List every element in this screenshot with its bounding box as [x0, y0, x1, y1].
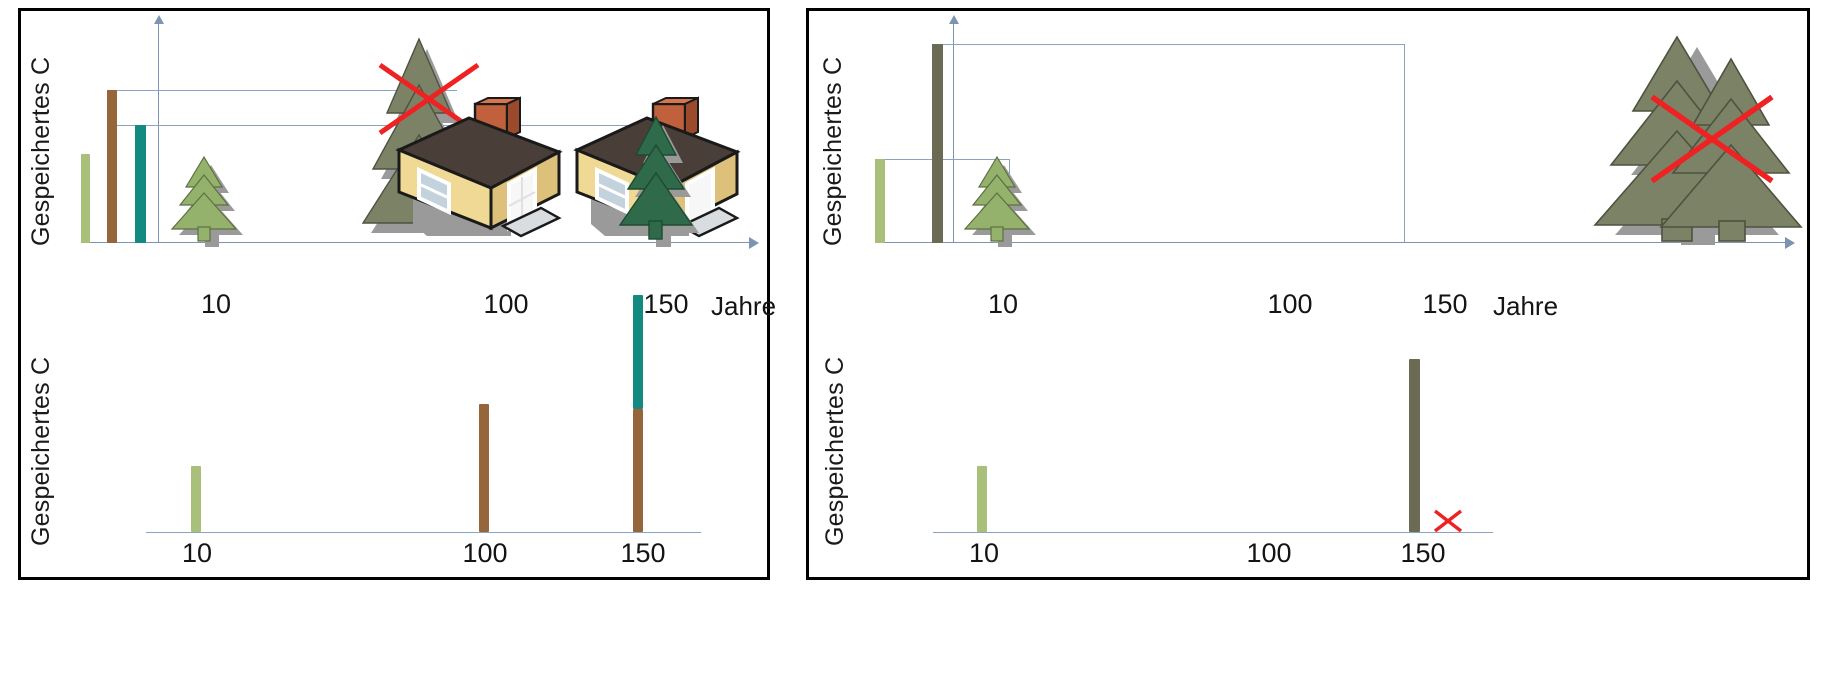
left-bottom-tick-10: 10 — [182, 538, 212, 569]
left-top-tick-150: 150 — [643, 289, 688, 320]
right-top-tick-150: 150 — [1422, 289, 1467, 320]
left-top-tick-100: 100 — [483, 289, 528, 320]
left-bottom-bar-10-green — [191, 466, 201, 532]
left-bottom-x-axis — [146, 532, 701, 533]
right-top-y-axis — [953, 23, 954, 243]
left-bottom-bar-150-brown — [633, 409, 643, 532]
right-bottom-tick-10: 10 — [969, 538, 999, 569]
right-red-cross-tree-icon — [1647, 89, 1777, 189]
right-top-bar-green-light — [875, 159, 885, 243]
right-young-tree-icon — [964, 149, 1054, 249]
right-top-x-axis-name: Jahre — [1493, 291, 1558, 322]
left-top-x-axis-arrow-icon — [749, 237, 759, 249]
left-top-y-axis-arrow-icon — [154, 15, 164, 24]
left-house-100-icon — [391, 96, 571, 246]
left-top-x-axis-name: Jahre — [711, 291, 776, 322]
left-top-y-axis-label: Gespeichertes C — [27, 21, 56, 246]
right-guide-olive-top — [932, 44, 1404, 45]
right-top-bar-olive-dark — [932, 44, 943, 243]
left-young-tree-icon — [171, 149, 261, 249]
left-top-y-axis — [158, 23, 159, 243]
right-bottom-bar-10-green — [977, 466, 987, 532]
right-top-y-axis-label: Gespeichertes C — [819, 21, 848, 246]
figure-root: Gespeichertes C — [0, 0, 1828, 690]
right-bottom-tick-150: 150 — [1400, 538, 1445, 569]
right-top-tick-100: 100 — [1267, 289, 1312, 320]
panel-right-no-harvest-scenario: Gespeichertes C — [806, 8, 1810, 580]
left-bottom-tick-150: 150 — [620, 538, 665, 569]
left-dark-green-tree-icon — [613, 111, 713, 251]
right-guide-olive-down — [1404, 44, 1405, 242]
right-bottom-bar-150-olive — [1409, 359, 1420, 532]
left-bottom-y-axis-label: Gespeichertes C — [27, 321, 56, 546]
left-bottom-tick-100: 100 — [462, 538, 507, 569]
left-top-bar-green-light — [81, 154, 90, 243]
right-bottom-red-cross-icon — [1431, 507, 1465, 535]
right-top-tick-10: 10 — [988, 289, 1018, 320]
right-top-y-axis-arrow-icon — [949, 15, 959, 24]
right-bottom-tick-100: 100 — [1246, 538, 1291, 569]
left-bottom-bar-100-brown — [479, 404, 489, 532]
right-bottom-x-axis — [933, 532, 1493, 533]
left-top-tick-10: 10 — [201, 289, 231, 320]
panel-left-harvest-scenario: Gespeichertes C — [18, 8, 770, 580]
left-top-bar-brown — [107, 90, 117, 243]
right-bottom-y-axis-label: Gespeichertes C — [821, 321, 850, 546]
left-top-bar-teal — [135, 125, 146, 243]
left-bottom-bar-150-teal — [633, 295, 643, 409]
